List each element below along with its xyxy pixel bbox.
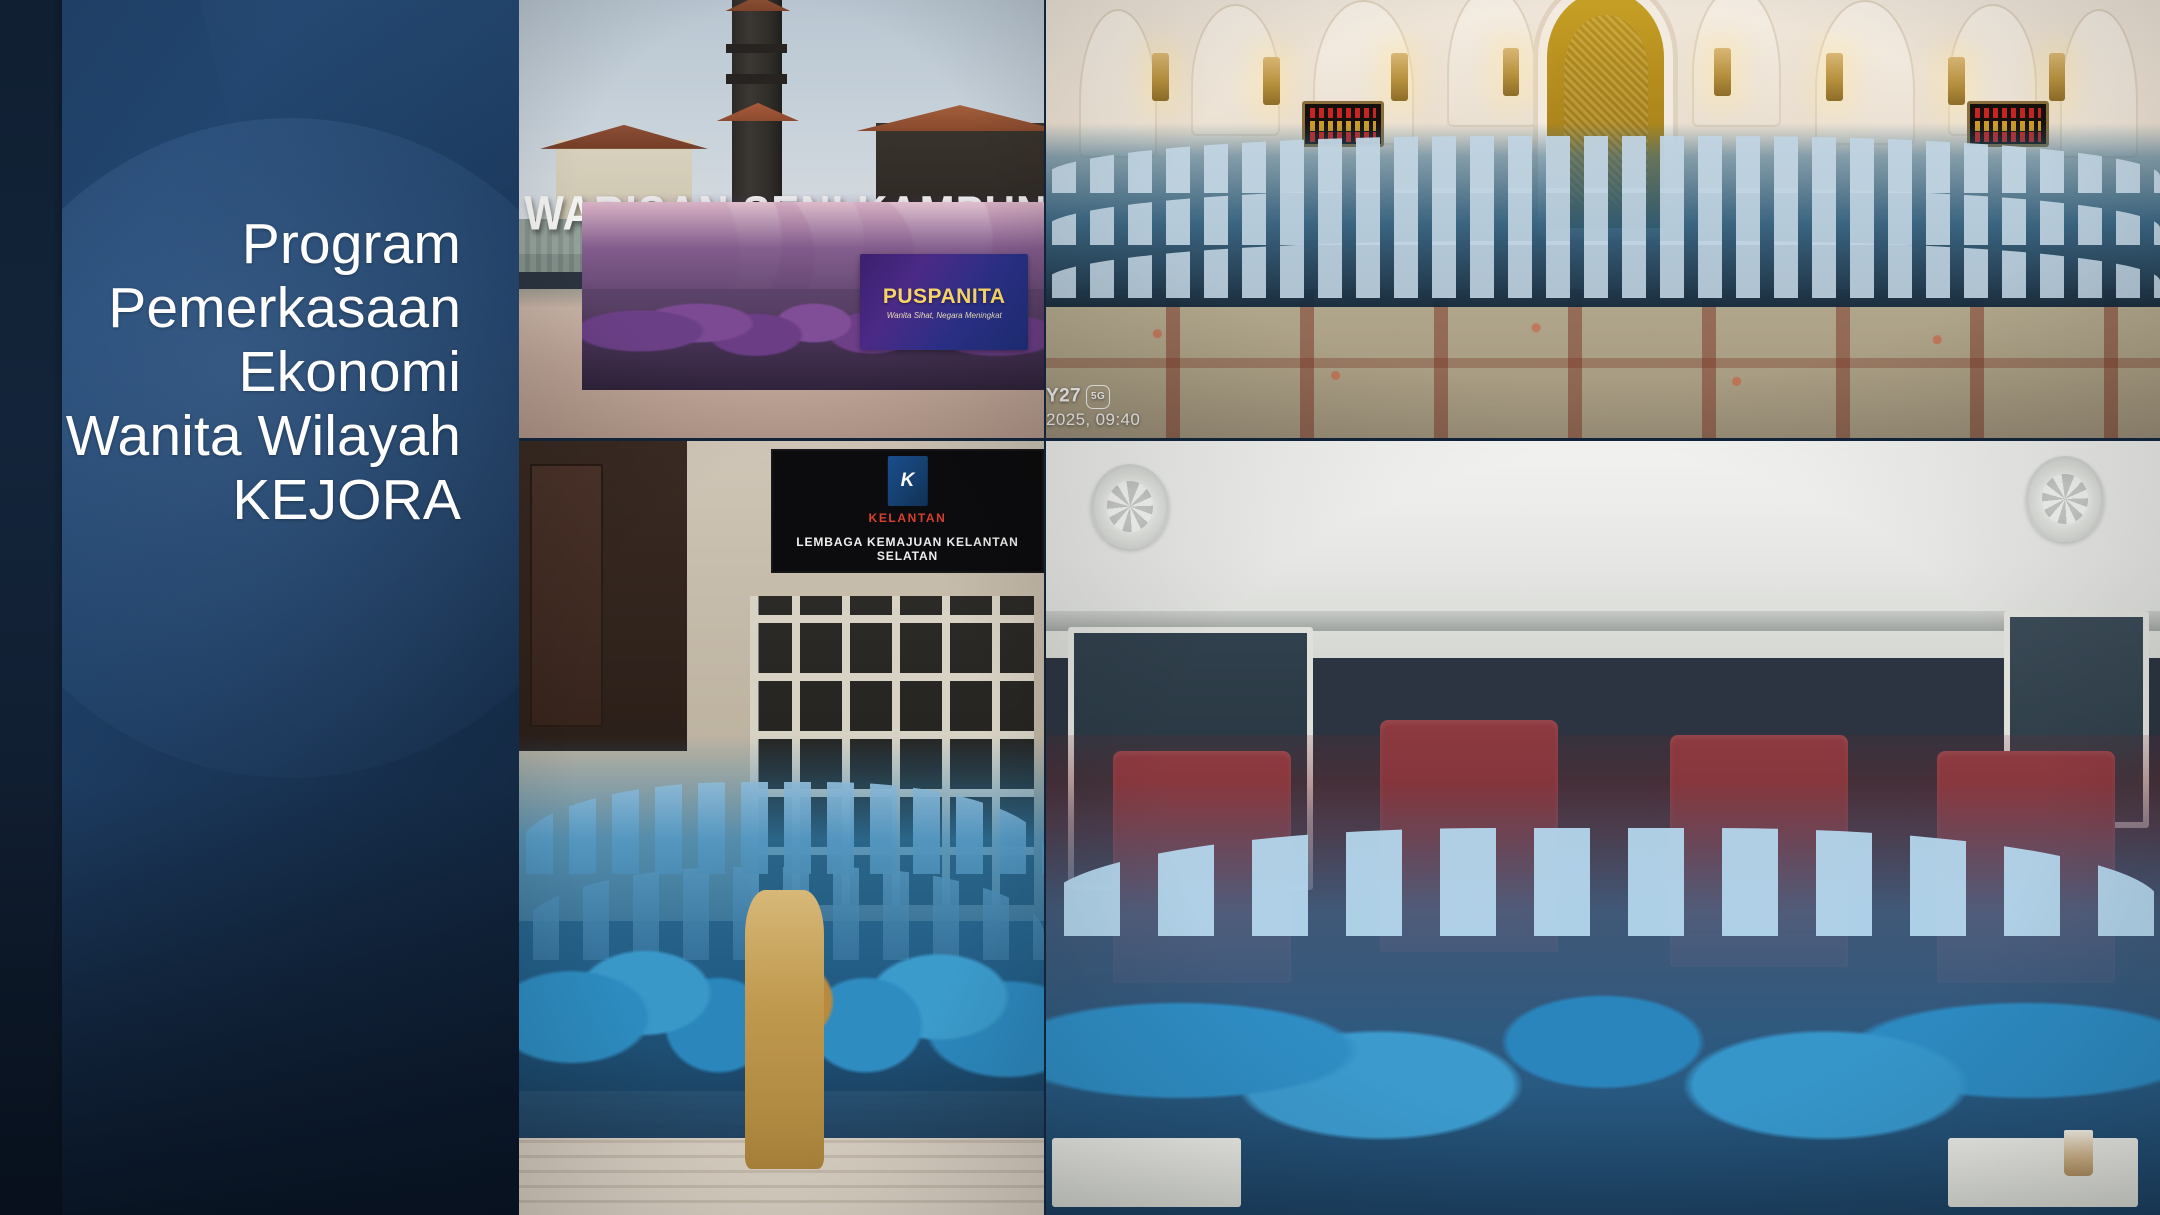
wall-lamp-4 <box>1503 48 1520 96</box>
title-line-3: Ekonomi <box>41 340 461 404</box>
tower-deck-upper <box>726 44 786 54</box>
wall-lamp-1 <box>1152 53 1169 101</box>
sign-state-label: KELANTAN <box>773 511 1042 525</box>
clock-row-1 <box>1310 108 1376 118</box>
clock-row-1 <box>1975 108 2041 118</box>
title-line-1: Program <box>41 212 461 276</box>
agency-signboard: K KELANTAN LEMBAGA KEMAJUAN KELANTAN SEL… <box>771 449 1044 573</box>
watermark-5g-badge: 5G <box>1086 385 1110 409</box>
presentation-slide: Program Pemerkasaan Ekonomi Wanita Wilay… <box>0 0 2160 1215</box>
crowd-heads-row <box>1046 828 2160 936</box>
vip-guest-figure <box>745 890 824 1169</box>
wall-arch-5 <box>1692 0 1781 127</box>
crowd-heads-row-3 <box>1046 241 2160 298</box>
wall-lamp-3 <box>1391 53 1408 101</box>
watermark-device: Y27 <box>1046 386 1081 407</box>
wall-lamp-5 <box>1714 48 1731 96</box>
banner-title: PUSPANITA <box>883 285 1006 309</box>
photo-train-carriage[interactable] <box>1046 441 2160 1215</box>
wall-arch-4 <box>1447 0 1536 127</box>
title-line-4: Wanita Wilayah <box>41 404 461 468</box>
photo-grid: WARISAN SENI KAMPUNG LAUT PUSPANITA Wani… <box>519 0 2160 1215</box>
slide-title: Program Pemerkasaan Ekonomi Wanita Wilay… <box>41 212 461 532</box>
wall-lamp-6 <box>1826 53 1843 101</box>
crowd-heads-row-1 <box>1046 136 2160 193</box>
wall-lamp-8 <box>2049 53 2066 101</box>
folding-table-right <box>1948 1138 2137 1208</box>
photo-kampung-laut[interactable]: WARISAN SENI KAMPUNG LAUT PUSPANITA Wani… <box>519 0 1044 438</box>
title-panel: Program Pemerkasaan Ekonomi Wanita Wilay… <box>0 0 519 1215</box>
folding-table-left <box>1052 1138 1241 1208</box>
camera-watermark: Y275G 2025, 09:40 <box>1046 385 1140 431</box>
kelantan-logo-icon: K <box>887 456 927 506</box>
prayer-carpet <box>1046 289 2160 438</box>
crowd-heads-row-2 <box>1046 188 2160 245</box>
panel-vignette <box>0 785 519 1215</box>
title-line-2: Pemerkasaan <box>41 276 461 340</box>
title-line-5: KEJORA <box>41 468 461 532</box>
watermark-timestamp: 2025, 09:40 <box>1046 409 1140 431</box>
photo-mosque-hall[interactable]: Y275G 2025, 09:40 <box>1046 0 2160 438</box>
drink-cup <box>2064 1130 2093 1176</box>
tower-deck-lower <box>726 74 786 84</box>
entrance-door <box>530 464 604 727</box>
puspanita-banner: PUSPANITA Wanita Sihat, Negara Meningkat <box>860 254 1028 350</box>
sign-agency-label: LEMBAGA KEMAJUAN KELANTAN SELATAN <box>773 535 1042 563</box>
ceiling-fan-icon-right <box>2026 456 2104 541</box>
wall-lamp-7 <box>1948 57 1965 105</box>
photo-lkns-building[interactable]: K KELANTAN LEMBAGA KEMAJUAN KELANTAN SEL… <box>519 441 1044 1215</box>
wall-lamp-2 <box>1263 57 1280 105</box>
banner-tagline: Wanita Sihat, Negara Meningkat <box>887 311 1002 320</box>
ceiling-fan-icon-left <box>1091 464 1169 549</box>
